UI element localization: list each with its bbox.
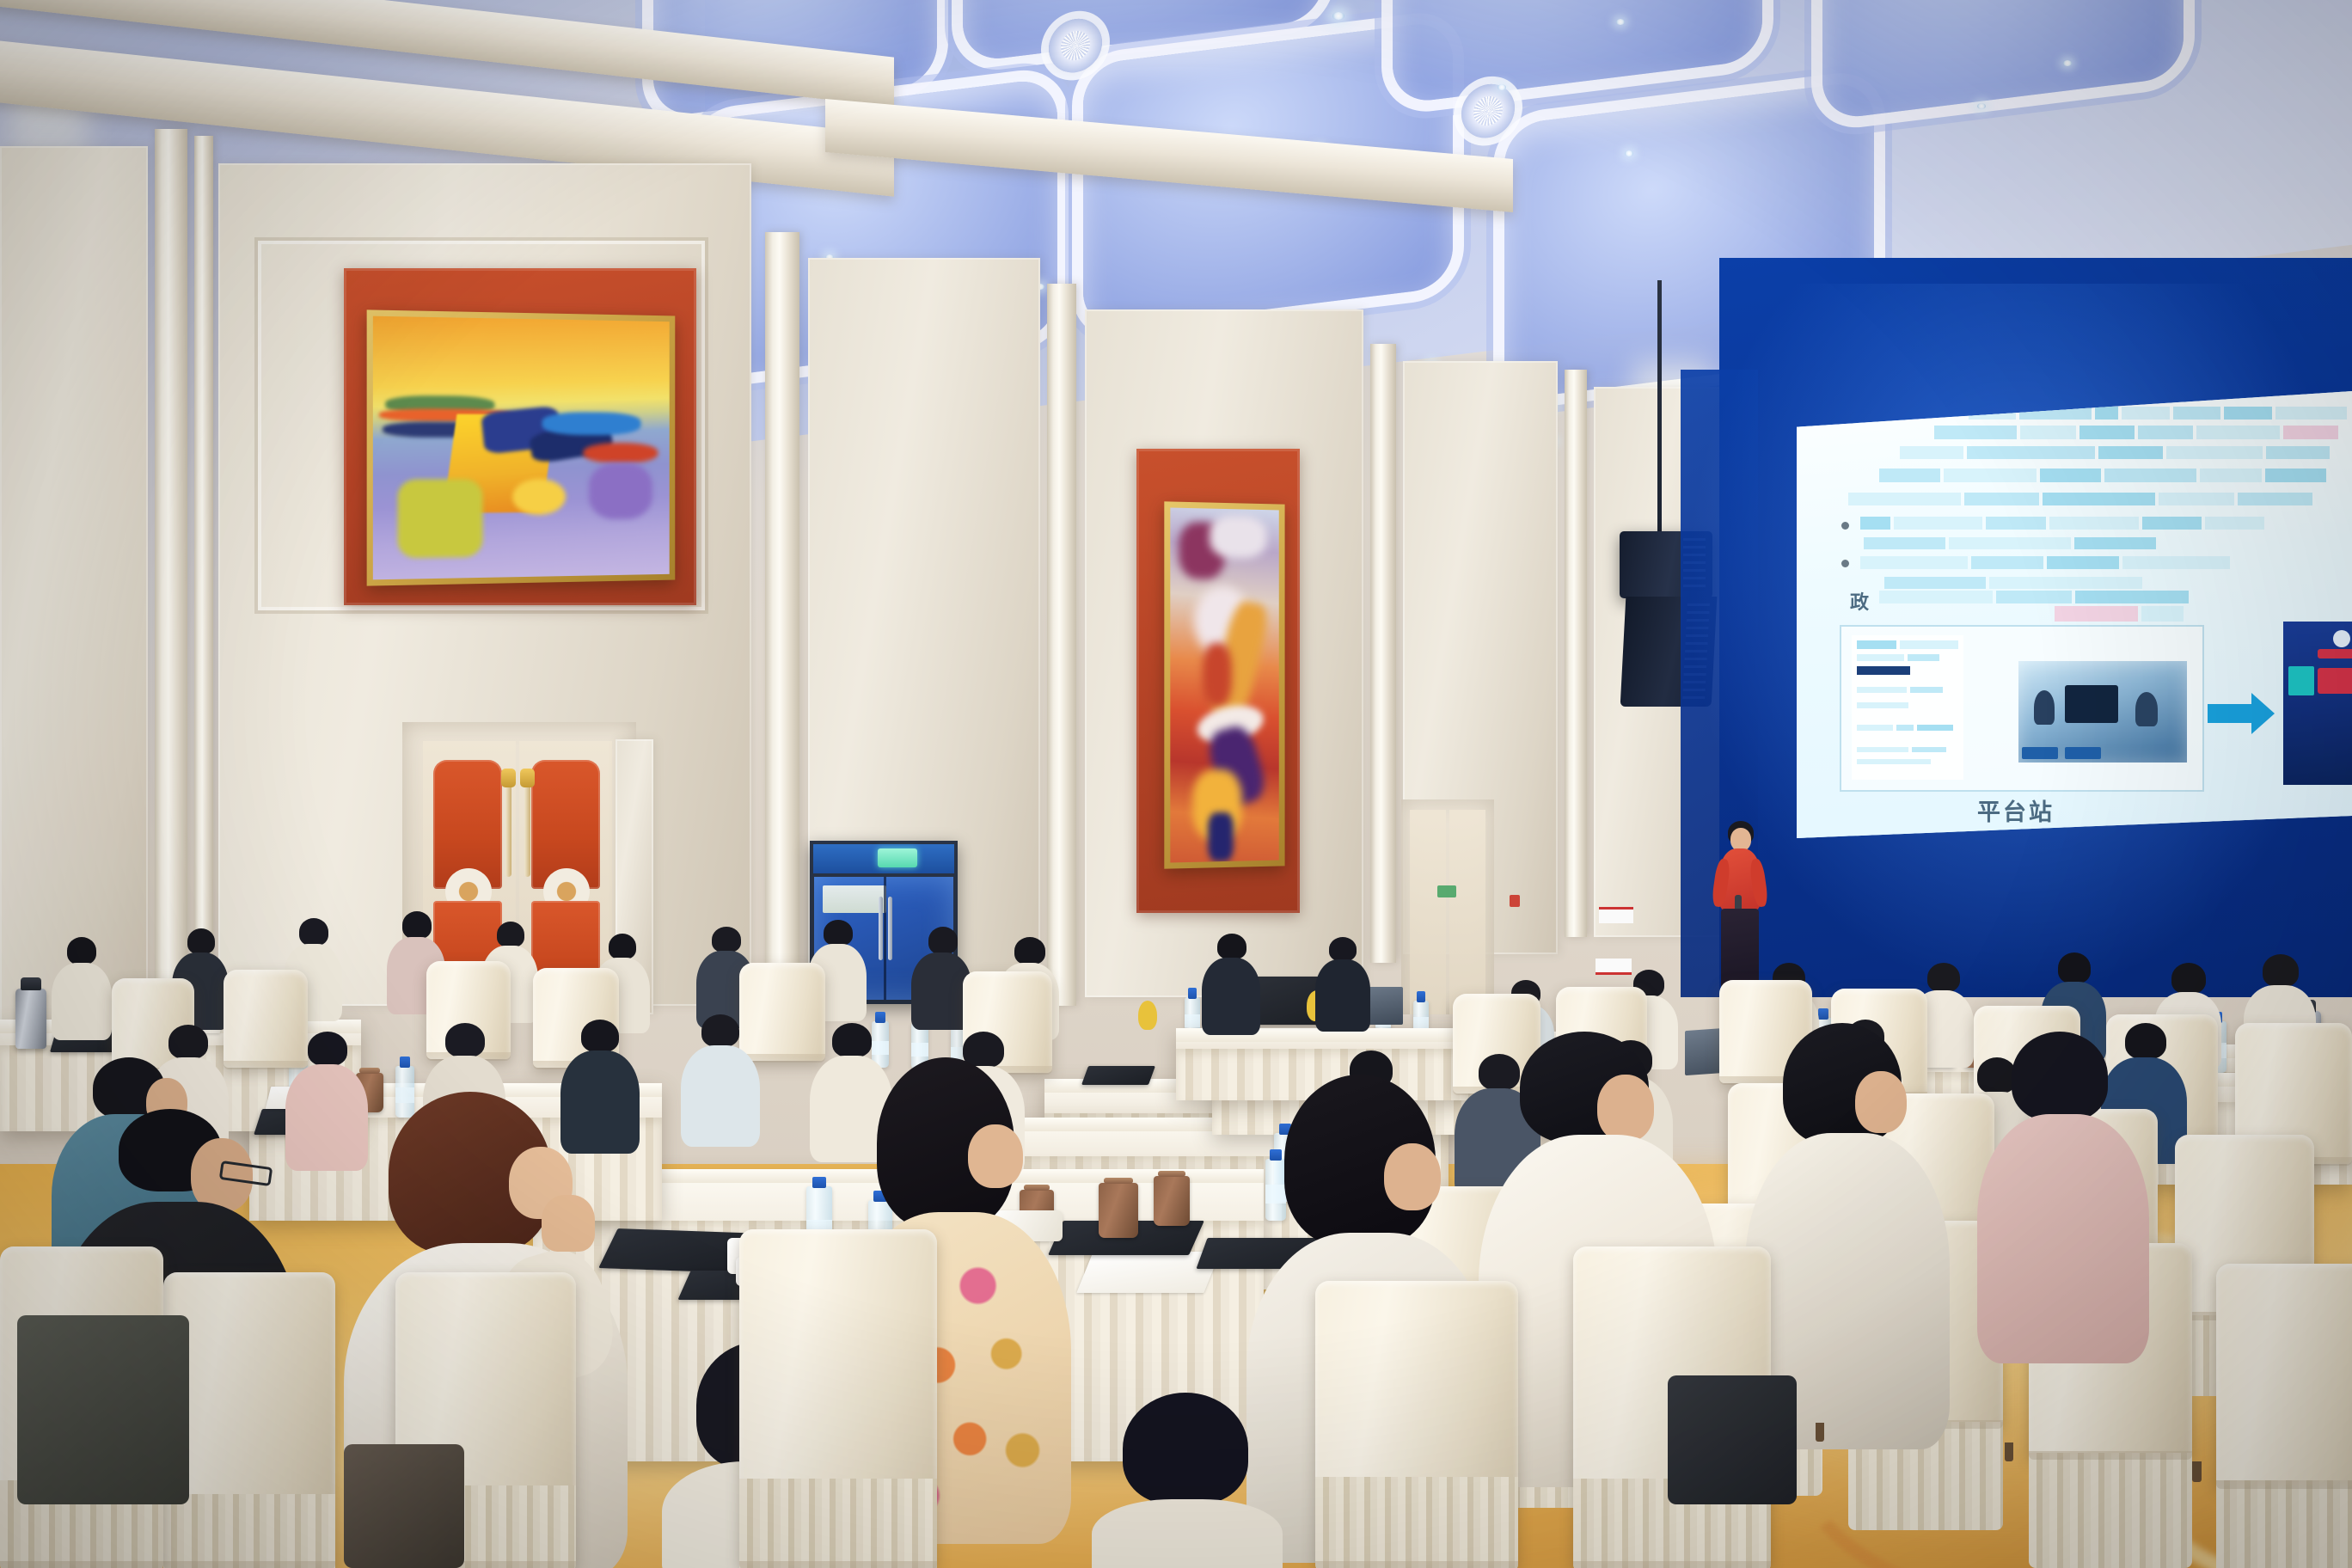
person-hair [712, 927, 741, 952]
redacted-card-text [1857, 725, 1953, 731]
slide-app-tag [2318, 668, 2352, 694]
chair-skirt [2029, 1453, 2192, 1568]
banquet-chair[interactable] [163, 1272, 335, 1568]
person-hair [2171, 963, 2206, 994]
slide-photo-button [2065, 747, 2101, 759]
person-hair [609, 934, 636, 959]
slide-app-tag [2318, 649, 2352, 658]
audience-person [679, 1014, 765, 1143]
note-pad[interactable] [1081, 1066, 1155, 1085]
wall-panel [0, 146, 148, 1040]
redacted-card-text [1857, 654, 1939, 661]
redacted-text-row [1879, 591, 2189, 603]
banquet-chair[interactable] [2216, 1264, 2352, 1487]
painting-landscape-frame [367, 309, 676, 585]
person-hair [1217, 934, 1246, 959]
ceiling-downlight [1625, 150, 1633, 156]
person-hair [824, 920, 853, 946]
person-hair [581, 1020, 619, 1052]
person-hair [2058, 952, 2091, 983]
chair-leg [1816, 1423, 1824, 1442]
banquet-chair[interactable] [1315, 1281, 1518, 1568]
cooler-display [878, 848, 917, 867]
person-hair [928, 927, 958, 954]
person-hair [2012, 1032, 2108, 1121]
person-torso [1977, 1114, 2149, 1363]
presenter-head [1730, 828, 1751, 851]
paper-sheet[interactable] [1076, 1252, 1220, 1293]
thermos-flask[interactable] [15, 989, 46, 1049]
photo-person-shape [2135, 692, 2158, 726]
person-torso [1092, 1499, 1283, 1568]
slide-secondary-text: 政 [1850, 587, 1869, 615]
redacted-card-text [1857, 640, 1958, 649]
conference-hall-photo: 政 [0, 0, 2352, 1568]
wall-pilaster [765, 232, 799, 1006]
slide-app-icon [2333, 630, 2350, 647]
chair-leg [2005, 1442, 2013, 1461]
av-technician [1202, 934, 1264, 1033]
slide-surface: 政 [1797, 391, 2352, 838]
photo-monitor-shape [2065, 685, 2118, 723]
redacted-card-text [1857, 687, 1943, 693]
ceiling-downlight [1498, 84, 1506, 90]
photo-person-shape [2034, 690, 2055, 725]
person-hair [168, 1025, 208, 1059]
tea-cup[interactable] [1099, 1183, 1138, 1238]
cooler-handle-left[interactable] [879, 897, 883, 960]
person-torso [1202, 958, 1260, 1035]
person-hair [187, 928, 215, 954]
slide-app-tag [2288, 666, 2314, 695]
audience-person [1092, 1393, 1289, 1568]
cooler-handle-right[interactable] [888, 897, 892, 960]
projection-screen: 政 [1797, 391, 2352, 838]
person-hair [1123, 1393, 1248, 1504]
audience-person [1977, 1032, 2158, 1358]
cooler-label [823, 885, 886, 913]
redacted-text-row [1848, 493, 2312, 505]
side-door-leaf[interactable] [1410, 810, 1446, 1014]
person-hair [67, 937, 96, 965]
slide-photo-button [2022, 747, 2058, 759]
person-hair [299, 918, 328, 946]
person-torso [681, 1045, 760, 1147]
handbag[interactable] [1668, 1375, 1797, 1504]
person-hair [1927, 963, 1960, 992]
exit-sign-icon [1437, 885, 1456, 897]
tea-cup[interactable] [1154, 1176, 1190, 1226]
slide-flow-arrow [2208, 704, 2252, 723]
wall-sign-plate [1599, 907, 1633, 923]
redacted-card-text [1857, 702, 1908, 708]
chair-skirt [1315, 1477, 1518, 1568]
chair-skirt [2216, 1480, 2352, 1568]
redacted-text-row [1934, 426, 2338, 439]
audience-person [52, 937, 117, 1038]
side-door-leaf[interactable] [1449, 810, 1485, 1014]
tech-lamp-icon [1138, 1001, 1157, 1030]
redacted-text-row [1879, 469, 2326, 482]
slide-bullet-icon [1841, 560, 1849, 567]
redacted-bullet-text [1884, 577, 2142, 589]
door-handle-right[interactable] [524, 782, 530, 877]
wall-pilaster [1565, 370, 1587, 937]
wall-pilaster [1370, 344, 1396, 963]
slide-caption: 平台站 [1977, 793, 2055, 827]
person-head [1384, 1143, 1441, 1210]
emergency-marker-icon [1510, 895, 1520, 907]
chair-skirt [163, 1494, 335, 1568]
person-hair [701, 1014, 739, 1047]
banquet-chair[interactable] [739, 1229, 937, 1568]
painting-portrait-frame [1164, 501, 1284, 868]
ceiling-downlight [2063, 60, 2072, 66]
wall-pilaster [194, 136, 213, 1038]
person-hair [308, 1032, 347, 1066]
ceiling-downlight [1977, 103, 1986, 109]
person-head [1855, 1071, 1907, 1133]
ceiling-coffer [1393, 0, 1762, 105]
ceiling-coffer [1822, 0, 2184, 120]
person-hair [1329, 937, 1357, 961]
person-hair [497, 922, 524, 947]
speaker-suspension-rod [1657, 280, 1662, 552]
handbag[interactable] [344, 1444, 464, 1568]
person-hair [445, 1023, 485, 1057]
backpack[interactable] [17, 1315, 189, 1504]
chair-skirt [739, 1479, 937, 1568]
person-hair [2263, 954, 2299, 987]
painting-landscape-canvas [373, 316, 670, 580]
ceiling-downlight [1616, 19, 1625, 25]
redacted-card-text [1857, 759, 1931, 764]
redacted-text-row [1900, 446, 2330, 459]
person-torso [1315, 959, 1370, 1032]
person-hair [832, 1023, 872, 1057]
person-head [1597, 1075, 1654, 1142]
person-hair [1014, 937, 1045, 965]
person-hand [542, 1195, 595, 1252]
audience-person [1315, 937, 1375, 1032]
person-hair [402, 911, 432, 939]
slide-card-badge [1857, 666, 1910, 675]
person-torso [52, 963, 112, 1040]
slide-bullet-icon [1841, 522, 1849, 530]
redacted-bullet-text [1864, 537, 2156, 549]
person-head [968, 1124, 1023, 1188]
wall-pilaster [155, 129, 187, 1040]
redacted-text-row [2055, 606, 2184, 622]
redacted-card-text [1857, 747, 1946, 752]
chair-leg [2192, 1461, 2202, 1482]
painting-portrait-canvas [1170, 508, 1278, 863]
wall-pilaster [1047, 284, 1076, 1006]
redacted-bullet-text [1860, 517, 2264, 530]
redacted-bullet-text [1860, 556, 2230, 569]
ceiling-downlight [1332, 12, 1344, 20]
door-handle-left[interactable] [505, 782, 511, 877]
